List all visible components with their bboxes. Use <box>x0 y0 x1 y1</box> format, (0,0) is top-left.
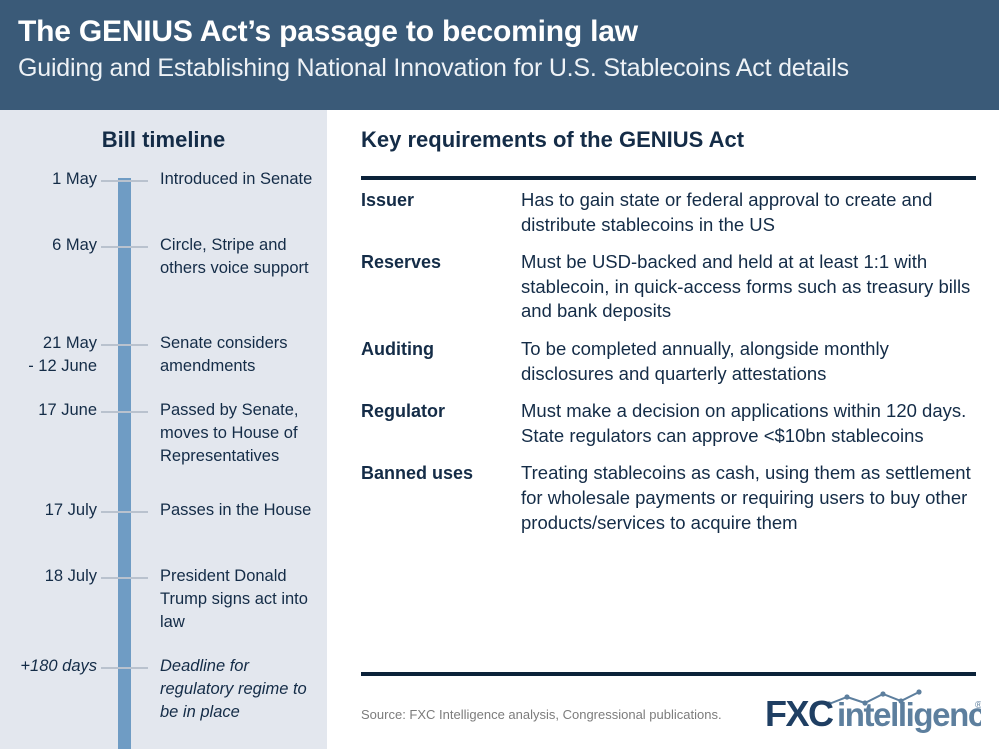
page-subtitle: Guiding and Establishing National Innova… <box>18 53 999 83</box>
timeline-item-date: 17 July <box>0 499 97 522</box>
requirements-top-rule <box>361 176 976 180</box>
requirements-table: IssuerHas to gain state or federal appro… <box>361 188 981 548</box>
requirement-row: Banned usesTreating stablecoins as cash,… <box>361 461 981 535</box>
requirement-description: Must make a decision on applications wit… <box>521 399 981 448</box>
source-note: Source: FXC Intelligence analysis, Congr… <box>361 707 722 722</box>
requirement-description: Treating stablecoins as cash, using them… <box>521 461 981 535</box>
timeline-tick <box>101 511 148 513</box>
requirement-row: AuditingTo be completed annually, alongs… <box>361 337 981 386</box>
timeline-item-description: Deadline for regulatory regime to be in … <box>160 655 320 723</box>
timeline-tick <box>101 411 148 413</box>
requirement-term: Banned uses <box>361 461 521 486</box>
timeline-item-description: Passed by Senate, moves to House of Repr… <box>160 399 320 467</box>
header-banner: The GENIUS Act’s passage to becoming law… <box>0 0 999 110</box>
timeline-tick <box>101 577 148 579</box>
timeline-item-description: President Donald Trump signs act into la… <box>160 565 320 633</box>
logo-mark-text: FXC <box>765 693 834 734</box>
timeline-item-date: 1 May <box>0 168 97 191</box>
timeline-item-date: 6 May <box>0 234 97 257</box>
timeline-tick <box>101 246 148 248</box>
requirement-term: Regulator <box>361 399 521 424</box>
timeline-item-date: 18 July <box>0 565 97 588</box>
timeline-item-description: Senate considers amendments <box>160 332 320 378</box>
logo-word-text: intelligence <box>837 696 981 733</box>
requirement-term: Auditing <box>361 337 521 362</box>
requirement-row: ReservesMust be USD-backed and held at a… <box>361 250 981 324</box>
requirement-row: IssuerHas to gain state or federal appro… <box>361 188 981 237</box>
fxc-intelligence-logo: FXC intelligence ® <box>765 688 981 734</box>
timeline-tick <box>101 180 148 182</box>
timeline-item-description: Circle, Stripe and others voice support <box>160 234 320 280</box>
requirement-term: Reserves <box>361 250 521 275</box>
timeline-tick <box>101 667 148 669</box>
key-requirements-panel: Key requirements of the GENIUS Act Issue… <box>327 110 999 749</box>
infographic-canvas: The GENIUS Act’s passage to becoming law… <box>0 0 999 749</box>
timeline-item-date: 17 June <box>0 399 97 422</box>
requirement-description: To be completed annually, alongside mont… <box>521 337 981 386</box>
requirement-term: Issuer <box>361 188 521 213</box>
requirement-row: RegulatorMust make a decision on applica… <box>361 399 981 448</box>
page-title: The GENIUS Act’s passage to becoming law <box>18 14 999 49</box>
timeline-tick <box>101 344 148 346</box>
timeline-item-description: Introduced in Senate <box>160 168 320 191</box>
svg-text:®: ® <box>975 700 981 711</box>
timeline-item-date: +180 days <box>0 655 97 678</box>
requirements-heading: Key requirements of the GENIUS Act <box>361 127 744 153</box>
requirement-description: Has to gain state or federal approval to… <box>521 188 981 237</box>
requirements-bottom-rule <box>361 672 976 676</box>
timeline-item-date: 21 May- 12 June <box>0 332 97 378</box>
requirement-description: Must be USD-backed and held at at least … <box>521 250 981 324</box>
timeline-item-list: 1 MayIntroduced in Senate6 MayCircle, St… <box>0 110 327 749</box>
timeline-item-description: Passes in the House <box>160 499 320 522</box>
bill-timeline-panel: Bill timeline 1 MayIntroduced in Senate6… <box>0 110 327 749</box>
